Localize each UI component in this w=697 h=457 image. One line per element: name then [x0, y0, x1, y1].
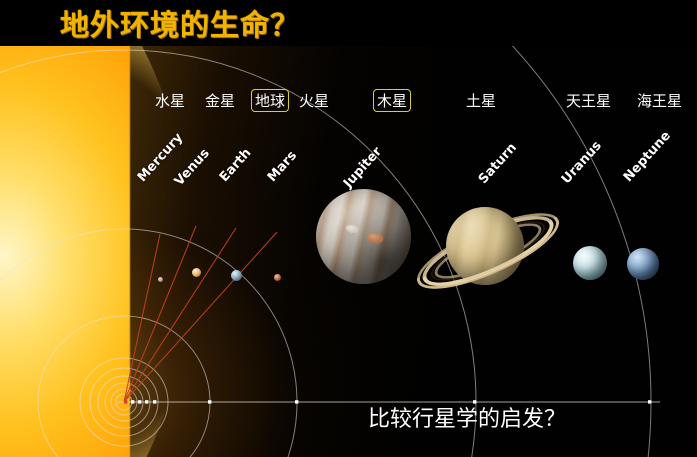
planet-body-uranus — [573, 246, 607, 280]
label-cn-mercury: 水星 — [155, 90, 185, 111]
title-bar: 地外环境的生命？ — [0, 0, 697, 46]
jupiter-white-oval — [345, 224, 359, 235]
page-title: 地外环境的生命？ — [60, 2, 300, 44]
solar-system-image: 水星 金星 地球 火星 木星 土星 天王星 海王星 Mercury Venus … — [0, 46, 697, 457]
label-cn-neptune: 海王星 — [637, 90, 682, 111]
planet-connector-lines — [124, 226, 277, 402]
label-cn-mars: 火星 — [299, 90, 329, 111]
label-cn-earth[interactable]: 地球 — [251, 89, 289, 112]
jupiter-great-red-spot — [365, 231, 384, 245]
label-cn-uranus: 天王星 — [566, 90, 611, 111]
planet-body-neptune — [627, 248, 659, 280]
planet-body-saturn — [414, 181, 562, 321]
label-cn-saturn: 土星 — [466, 90, 496, 111]
label-cn-venus: 金星 — [205, 90, 235, 111]
slide-caption: 比较行星学的启发？ — [368, 401, 566, 433]
planet-body-mercury — [158, 277, 163, 282]
slide-canvas: 地外环境的生命？ — [0, 0, 697, 457]
planet-body-venus — [192, 268, 201, 277]
planet-body-jupiter — [316, 189, 411, 284]
planet-body-earth — [231, 270, 242, 281]
planet-body-mars — [274, 274, 281, 281]
label-cn-jupiter[interactable]: 木星 — [373, 89, 411, 112]
